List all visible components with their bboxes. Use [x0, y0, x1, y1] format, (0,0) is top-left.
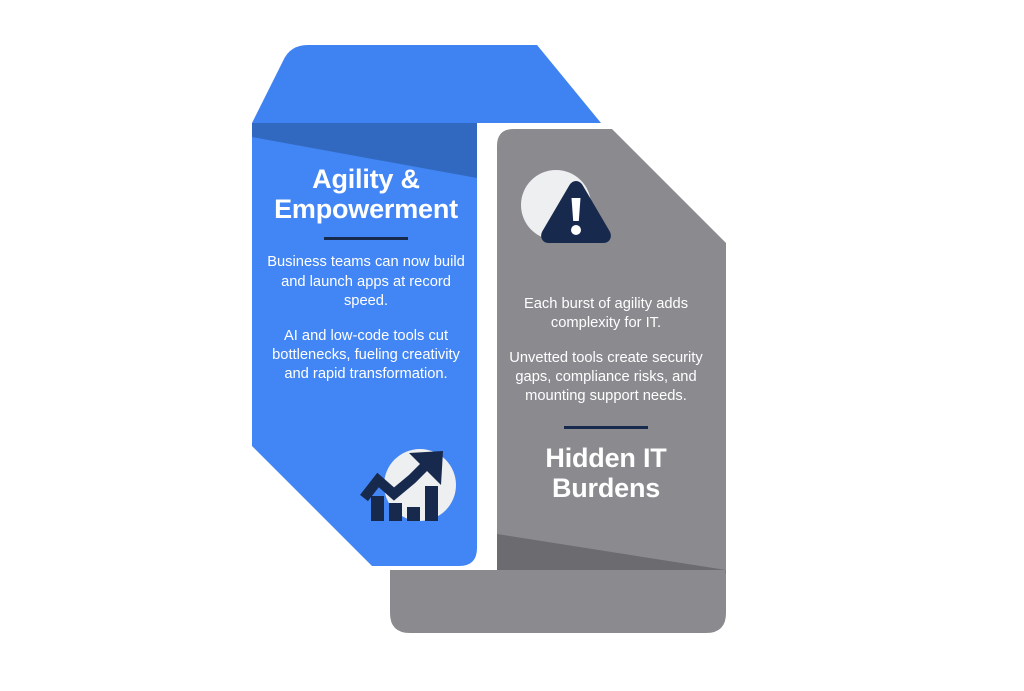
agility-panel-body: Business teams can now build and launch … — [258, 253, 474, 384]
growth-icon-bar-1 — [371, 496, 384, 521]
hidden-it-burdens-panel-body: Each burst of agility adds complexity fo… — [500, 295, 712, 407]
warning-icon-exclamation-dot — [571, 225, 581, 235]
hidden-it-burdens-paragraph-2: Unvetted tools create security gaps, com… — [500, 349, 712, 406]
hidden-it-burdens-title-line2: Burdens — [500, 473, 712, 503]
agility-panel-paragraph-1: Business teams can now build and launch … — [258, 253, 474, 310]
agility-panel-content: Agility & Empowerment Business teams can… — [258, 164, 474, 384]
growth-icon-bar-2 — [389, 503, 402, 521]
growth-chart-icon — [357, 441, 463, 537]
growth-icon-bar-4 — [425, 486, 438, 521]
infographic-canvas: Agility & Empowerment Business teams can… — [0, 0, 1024, 691]
hidden-it-burdens-panel-divider — [564, 426, 648, 429]
agility-panel-title-line1: Agility & — [258, 164, 474, 194]
hidden-it-burdens-paragraph-1: Each burst of agility adds complexity fo… — [500, 295, 712, 333]
agility-panel-title: Agility & Empowerment — [258, 164, 474, 224]
hidden-it-burdens-panel-content: Each burst of agility adds complexity fo… — [500, 295, 712, 503]
hidden-it-burdens-title-line1: Hidden IT — [500, 443, 712, 473]
warning-triangle-icon — [513, 163, 617, 259]
growth-icon-bar-3 — [407, 507, 420, 521]
gray-panel-foot-front — [390, 570, 726, 633]
agility-panel-title-line2: Empowerment — [258, 194, 474, 224]
agility-panel-paragraph-2: AI and low-code tools cut bottlenecks, f… — [258, 327, 474, 384]
agility-panel-divider — [324, 237, 408, 240]
hidden-it-burdens-panel-title: Hidden IT Burdens — [500, 443, 712, 503]
blue-panel-roof — [252, 45, 601, 123]
